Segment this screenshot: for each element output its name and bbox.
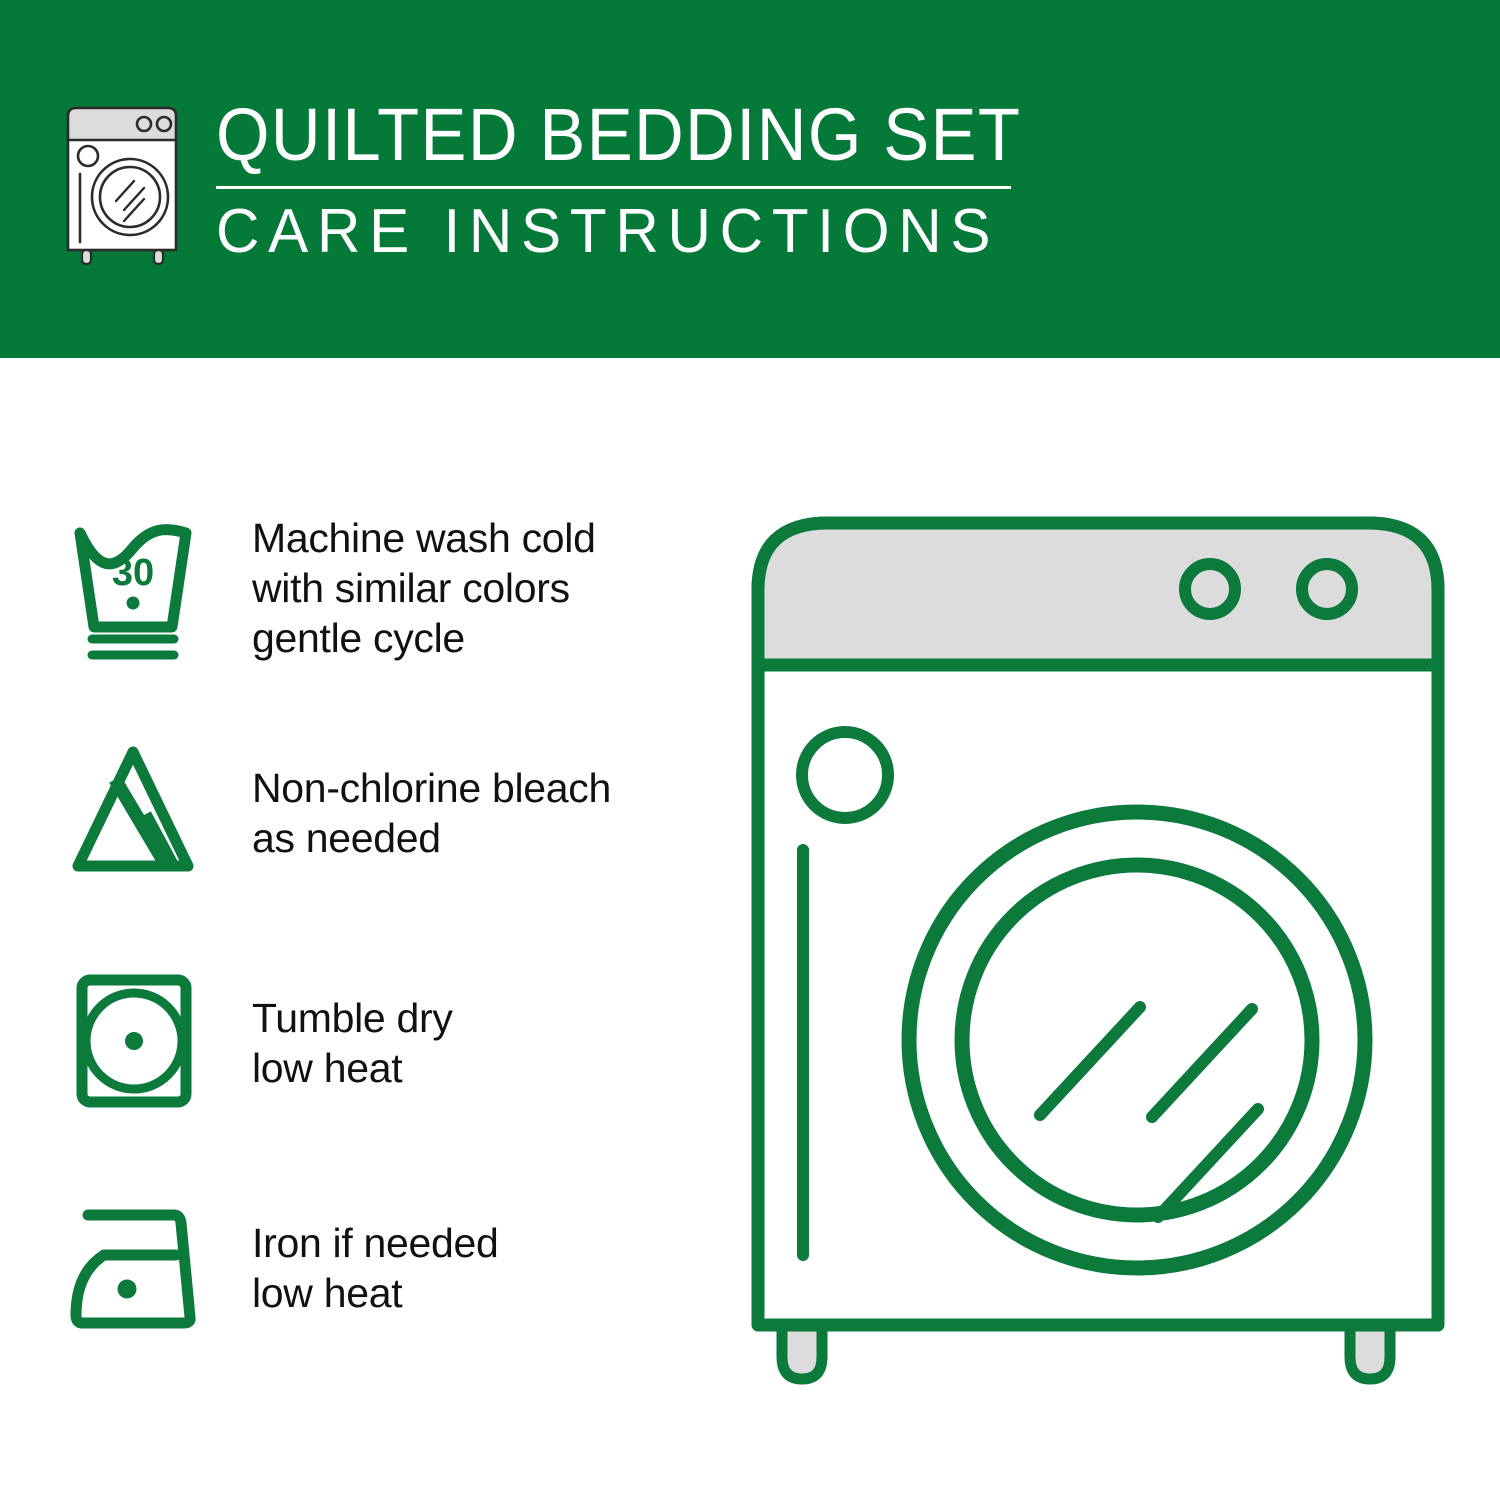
care-instruction-label: Machine wash cold with similar colors ge… <box>252 513 596 663</box>
machine-door-inner[interactable] <box>962 865 1312 1215</box>
tumble-dry-icon-wrap <box>70 963 230 1123</box>
iron-icon <box>70 1193 222 1343</box>
tumble-dry-icon <box>70 968 222 1118</box>
header-band: QUILTED BEDDING SET CARE INSTRUCTIONS <box>0 0 1500 358</box>
machine-knob-right[interactable] <box>1302 564 1352 614</box>
care-instruction-label: Iron if needed low heat <box>252 1218 499 1318</box>
bleach-triangle-icon-wrap <box>70 733 230 893</box>
page-title: QUILTED BEDDING SET <box>216 96 1021 174</box>
tumble-dry-heat-dot <box>125 1032 143 1050</box>
iron-heat-dot <box>118 1280 137 1299</box>
wash-heat-dot <box>127 597 140 610</box>
care-instruction-list: 30 Machine wash cold with similar colors… <box>0 358 730 1500</box>
header-content: QUILTED BEDDING SET CARE INSTRUCTIONS <box>62 96 1082 268</box>
wash-temperature-value: 30 <box>112 552 154 594</box>
wash-tub-30-icon: 30 <box>70 513 222 663</box>
care-instruction-item: Tumble dry low heat <box>70 963 710 1123</box>
care-instruction-label: Tumble dry low heat <box>252 993 453 1093</box>
machine-indicator-light <box>802 732 888 818</box>
care-instruction-item: 30 Machine wash cold with similar colors… <box>70 508 710 668</box>
washing-machine-illustration <box>740 495 1460 1430</box>
page-subtitle: CARE INSTRUCTIONS <box>216 199 999 265</box>
machine-knob-left[interactable] <box>1185 564 1235 614</box>
care-instruction-item: Non-chlorine bleach as needed <box>70 733 710 893</box>
wash-tub-30-icon-wrap: 30 <box>70 508 230 668</box>
washing-machine-icon <box>62 100 192 268</box>
bleach-triangle-icon <box>70 738 222 888</box>
iron-icon-wrap <box>70 1188 230 1348</box>
care-instruction-item: Iron if needed low heat <box>70 1188 710 1348</box>
care-instruction-label: Non-chlorine bleach as needed <box>252 763 611 863</box>
header-text-block: QUILTED BEDDING SET CARE INSTRUCTIONS <box>216 96 1082 265</box>
header-divider <box>216 186 1011 189</box>
